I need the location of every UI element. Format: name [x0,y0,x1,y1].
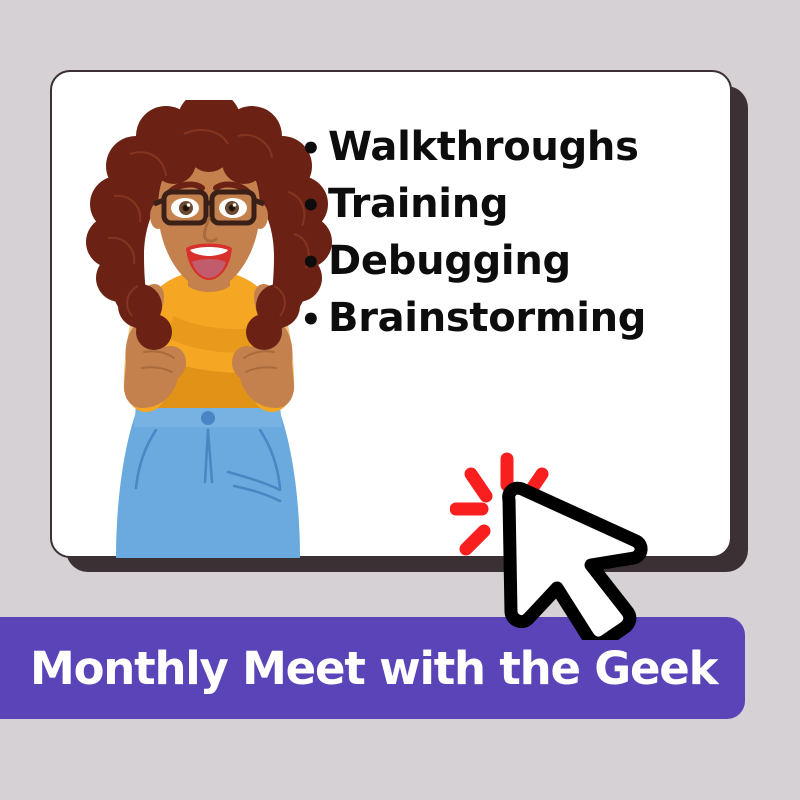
woman-thumbs-up-illustration [78,100,338,558]
list-item-label: Walkthroughs [328,120,639,175]
list-item-label: Debugging [328,234,571,289]
bullet-dot-icon: • [300,293,328,348]
bullet-dot-icon: • [300,122,328,177]
bullet-dot-icon: • [300,179,328,234]
list-item: • Training [300,177,646,234]
mouse-pointer-click-icon [450,445,660,640]
list-item: • Debugging [300,234,646,291]
list-item-label: Training [328,177,508,232]
list-item: • Walkthroughs [300,120,646,177]
page-title: Monthly Meet with the Geek [30,642,717,695]
bullet-dot-icon: • [300,236,328,291]
list-item-label: Brainstorming [328,291,646,346]
poster-canvas: • Walkthroughs • Training • Debugging • … [0,0,800,800]
list-item: • Brainstorming [300,291,646,348]
topic-bullet-list: • Walkthroughs • Training • Debugging • … [300,120,646,348]
